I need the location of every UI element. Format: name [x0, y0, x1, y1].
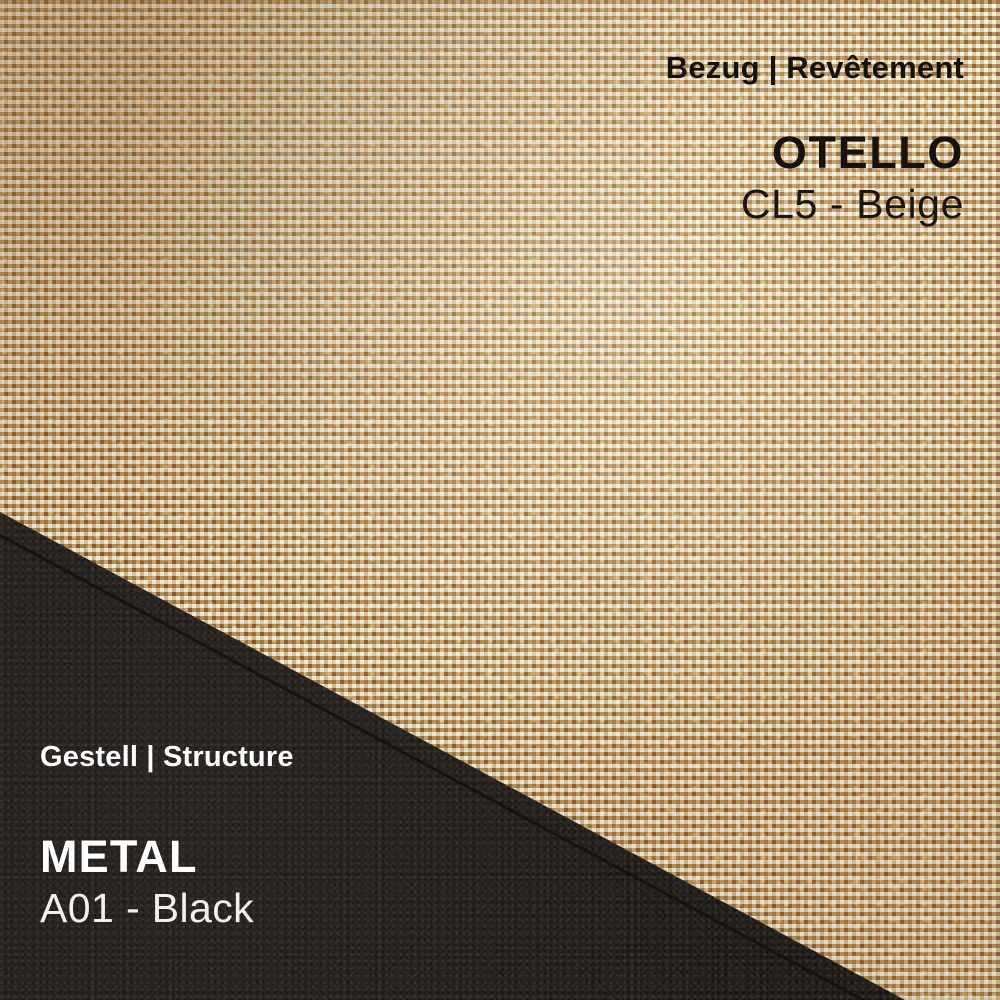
frame-category-label: Gestell | Structure [40, 742, 294, 772]
frame-color-code: A01 - Black [40, 887, 294, 930]
frame-material-name: METAL [40, 834, 294, 881]
upholstery-caption: Bezug | Revêtement OTELLO CL5 - Beige [666, 52, 964, 226]
upholstery-color-code: CL5 - Beige [666, 183, 964, 226]
upholstery-category-label: Bezug | Revêtement [666, 52, 964, 84]
frame-caption: Gestell | Structure METAL A01 - Black [40, 742, 294, 930]
upholstery-material-name: OTELLO [666, 130, 964, 177]
material-swatch-card: Bezug | Revêtement OTELLO CL5 - Beige Ge… [0, 0, 1000, 1000]
